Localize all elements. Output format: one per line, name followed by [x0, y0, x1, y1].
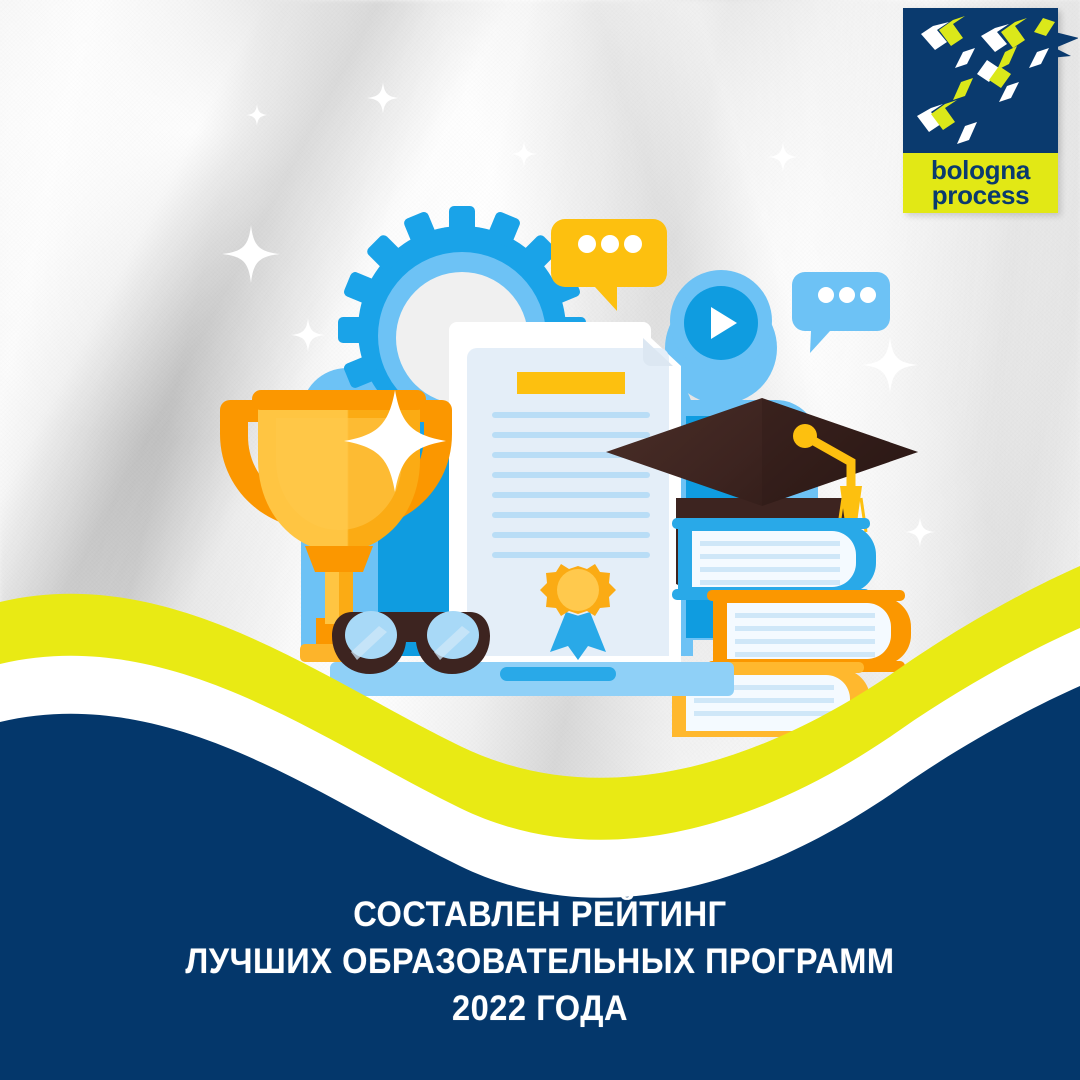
logo-word-process: process — [932, 183, 1030, 208]
logo-wordmark: bologna process — [903, 153, 1058, 213]
certificate-title-bar — [517, 372, 625, 394]
play-button-icon — [670, 270, 772, 372]
headline-text: СОСТАВЛЕН РЕЙТИНГ ЛУЧШИХ ОБРАЗОВАТЕЛЬНЫХ… — [38, 891, 1042, 1032]
logo-arrow-pattern — [903, 8, 1078, 158]
headline-line-3: 2022 ГОДА — [38, 985, 1042, 1032]
logo-star-point — [1050, 32, 1078, 58]
chat-bubble-blue-icon — [792, 272, 890, 353]
bologna-process-logo[interactable]: bologna process — [903, 8, 1063, 213]
poster-canvas: СОСТАВЛЕН РЕЙТИНГ ЛУЧШИХ ОБРАЗОВАТЕЛЬНЫХ… — [0, 0, 1080, 1080]
headline-line-1: СОСТАВЛЕН РЕЙТИНГ — [38, 891, 1042, 938]
headline-line-2: ЛУЧШИХ ОБРАЗОВАТЕЛЬНЫХ ПРОГРАММ — [38, 938, 1042, 985]
